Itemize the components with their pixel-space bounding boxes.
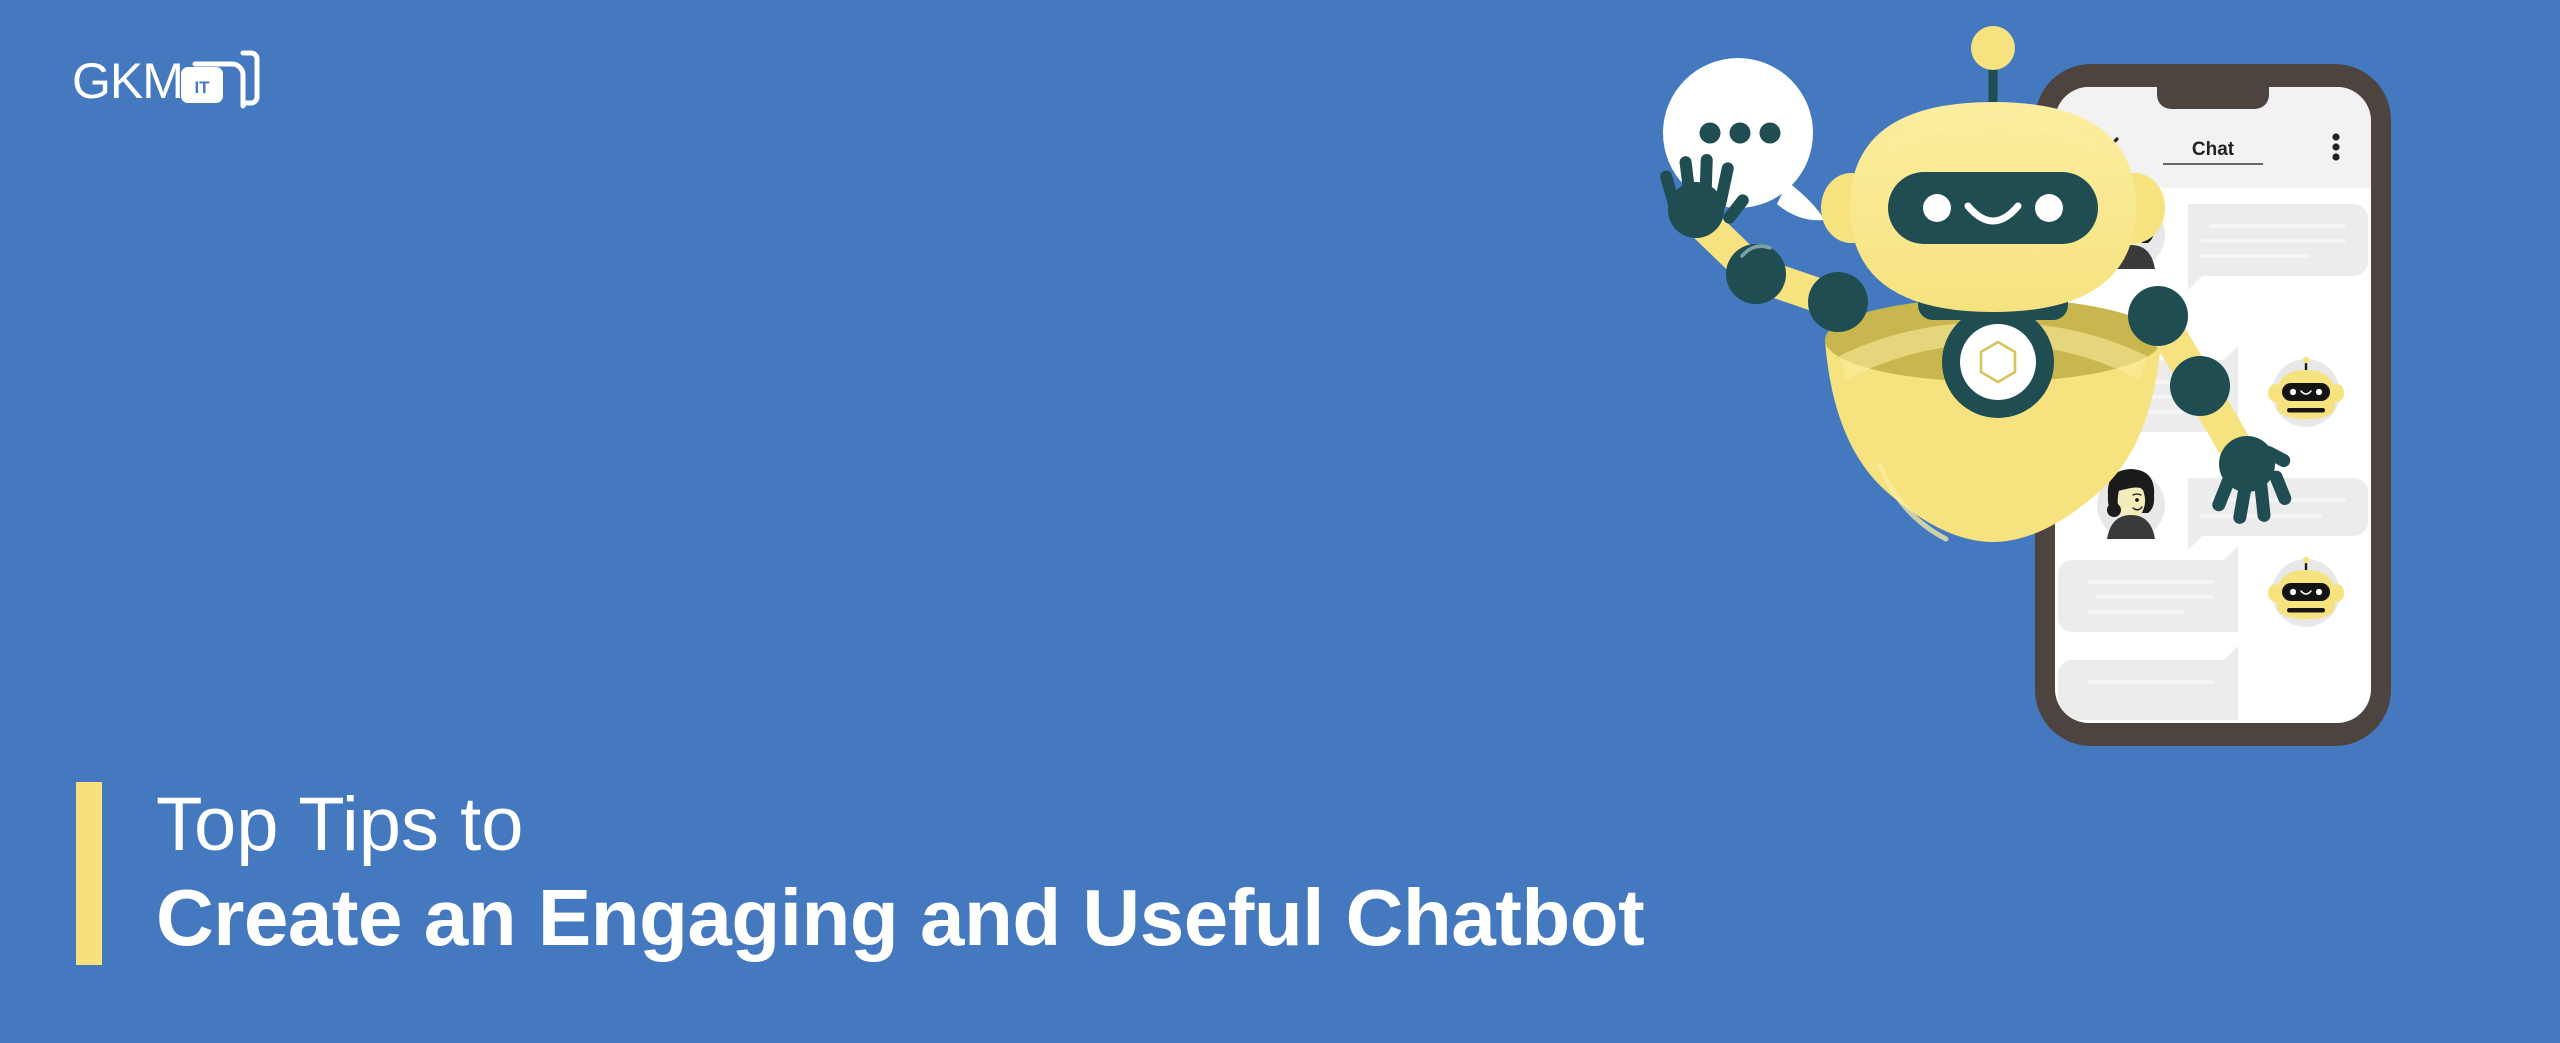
robot-elbow-right <box>2170 356 2230 416</box>
robot-eye-right <box>2035 194 2063 222</box>
accent-bar <box>76 782 102 965</box>
headline-block: Top Tips to Create an Engaging and Usefu… <box>76 782 1644 965</box>
phone-header-title: Chat <box>2192 139 2235 160</box>
robot-shoulder-right <box>2128 286 2188 346</box>
headline-text: Top Tips to Create an Engaging and Usefu… <box>156 782 1644 965</box>
gkm-it-logo[interactable]: GKM IT <box>72 44 282 112</box>
headline-line-2: Create an Engaging and Useful Chatbot <box>156 871 1644 965</box>
robot-antenna-bulb <box>1971 26 2015 70</box>
headline-line-1: Top Tips to <box>156 782 1644 869</box>
robot-chest-core <box>1960 324 2036 400</box>
robot-elbow-left <box>1726 244 1786 304</box>
hero-illustration: Chat <box>1630 50 2510 840</box>
robot-shoulder-left <box>1808 272 1868 332</box>
logo-svg: GKM IT <box>72 44 282 112</box>
logo-wordmark: GKM <box>72 53 183 109</box>
banner-root: GKM IT <box>0 0 2560 1043</box>
overflow-menu-icon[interactable] <box>2332 133 2339 160</box>
phone-notch <box>2157 87 2269 109</box>
typing-dots-icon <box>1700 123 1781 144</box>
illustration-svg: Chat <box>1630 50 2510 840</box>
robot-visor <box>1888 172 2098 244</box>
robot-eye-left <box>1923 194 1951 222</box>
logo-it-text: IT <box>194 78 210 97</box>
